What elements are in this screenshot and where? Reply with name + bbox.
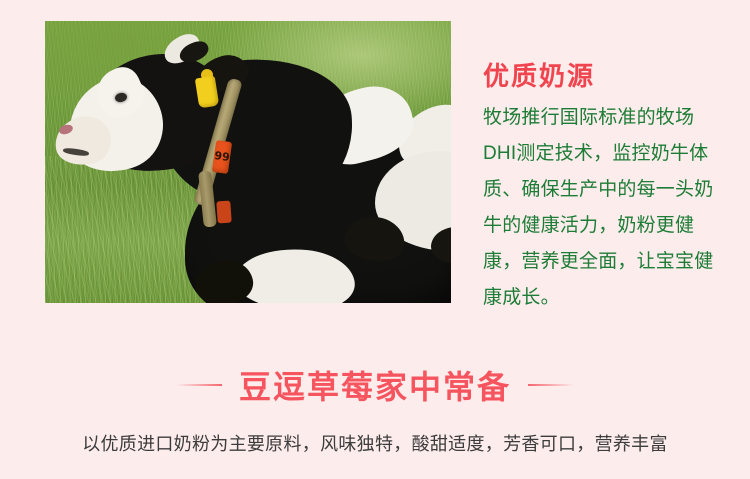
cow-pasture-photo: 99 [45, 21, 451, 303]
milk-source-title: 优质奶源 [483, 56, 595, 93]
headline-band: 豆逗草莓家中常备 [0, 362, 750, 408]
product-detail-page: 99 优质奶源 牧场推行国际标准的牧场DHI测定技术，监控奶牛体质、确保生产中的… [0, 0, 750, 479]
collar-number-tag-secondary [216, 201, 232, 224]
headline-rule-right [528, 384, 574, 386]
headline-rule-left [176, 384, 222, 386]
headline-text: 豆逗草莓家中常备 [239, 362, 511, 408]
milk-source-body-text: 牧场推行国际标准的牧场DHI测定技术，监控奶牛体质、确保生产中的每一头奶牛的健康… [483, 100, 719, 316]
pasture-background: 99 [45, 21, 451, 303]
subcaption-text: 以优质进口奶粉为主要原料，风味独特，酸甜适度，芳香可口，营养丰富 [0, 430, 750, 456]
